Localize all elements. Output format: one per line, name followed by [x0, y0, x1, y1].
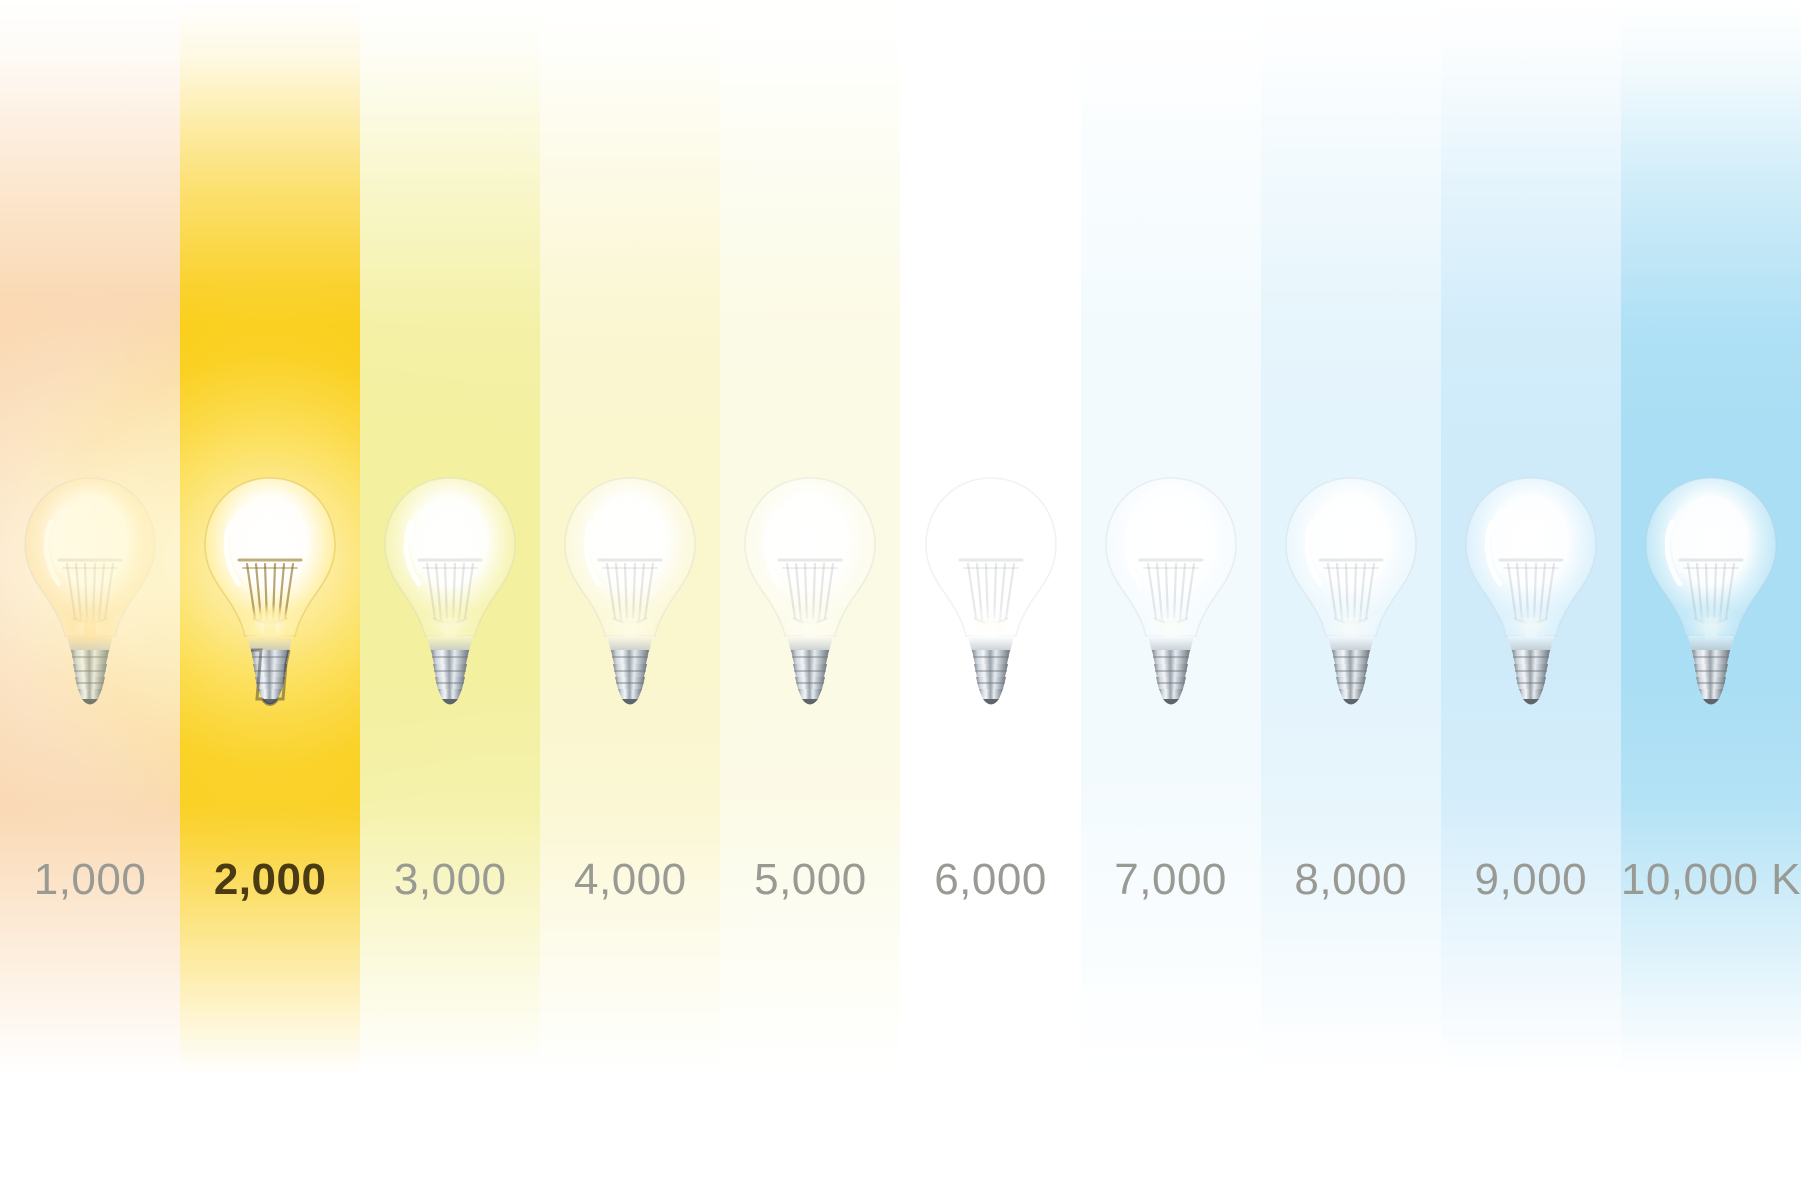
temperature-band-2000k: 2,000: [180, 0, 360, 1085]
light-bulb-icon: [375, 468, 525, 718]
temperature-band-4000k: 4,000: [540, 0, 720, 1085]
kelvin-label: 9,000: [1441, 855, 1621, 905]
light-bulb-icon: [15, 468, 165, 718]
light-bulb-icon: [916, 468, 1066, 718]
scale-legend-bar: Warm COLOR TEMPERATURE SCALE Cool: [0, 1085, 1801, 1200]
temperature-band-7000k: 7,000: [1081, 0, 1261, 1085]
temperature-band-1000k: 1,000: [0, 0, 180, 1085]
kelvin-label: 10,000 K: [1621, 855, 1801, 905]
temperature-band-5000k: 5,000: [720, 0, 900, 1085]
temperature-band-3000k: 3,000: [360, 0, 540, 1085]
kelvin-label: 6,000: [900, 855, 1080, 905]
light-bulb-icon: [1636, 468, 1786, 718]
kelvin-label: 4,000: [540, 855, 720, 905]
kelvin-label: 3,000: [360, 855, 540, 905]
light-bulb-icon: [195, 468, 345, 718]
light-bulb-icon: [1276, 468, 1426, 718]
temperature-band-10000k: 10,000 K: [1621, 0, 1801, 1085]
temperature-band-8000k: 8,000: [1261, 0, 1441, 1085]
temperature-band-6000k: 6,000: [900, 0, 1080, 1085]
kelvin-label: 1,000: [0, 855, 180, 905]
color-temperature-infographic: 1,000: [0, 0, 1801, 1200]
temperature-band-strip: 1,000: [0, 0, 1801, 1085]
kelvin-label: 8,000: [1261, 855, 1441, 905]
kelvin-label: 7,000: [1081, 855, 1261, 905]
kelvin-label: 5,000: [720, 855, 900, 905]
light-bulb-icon: [1456, 468, 1606, 718]
light-bulb-icon: [555, 468, 705, 718]
kelvin-label: 2,000: [180, 855, 360, 905]
light-bulb-icon: [735, 468, 885, 718]
light-bulb-icon: [1096, 468, 1246, 718]
temperature-band-9000k: 9,000: [1441, 0, 1621, 1085]
